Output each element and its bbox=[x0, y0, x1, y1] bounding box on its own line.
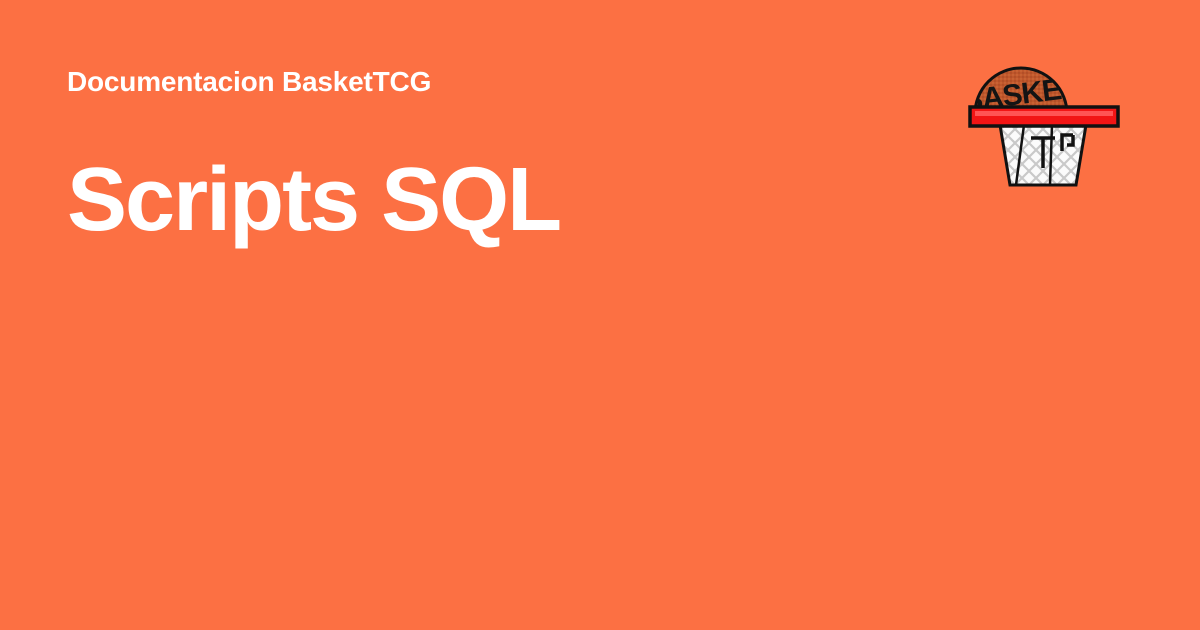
hoop-rim bbox=[970, 107, 1118, 126]
card-text-block: Documentacion BasketTCG Scripts SQL bbox=[67, 62, 887, 248]
open-graph-card: Documentacion BasketTCG Scripts SQL bbox=[0, 0, 1200, 630]
page-title: Scripts SQL bbox=[67, 152, 887, 248]
hoop-net bbox=[1000, 125, 1086, 185]
basket-tcg-logo-icon: BASKET bbox=[966, 52, 1124, 192]
site-name: Documentacion BasketTCG bbox=[67, 62, 887, 102]
